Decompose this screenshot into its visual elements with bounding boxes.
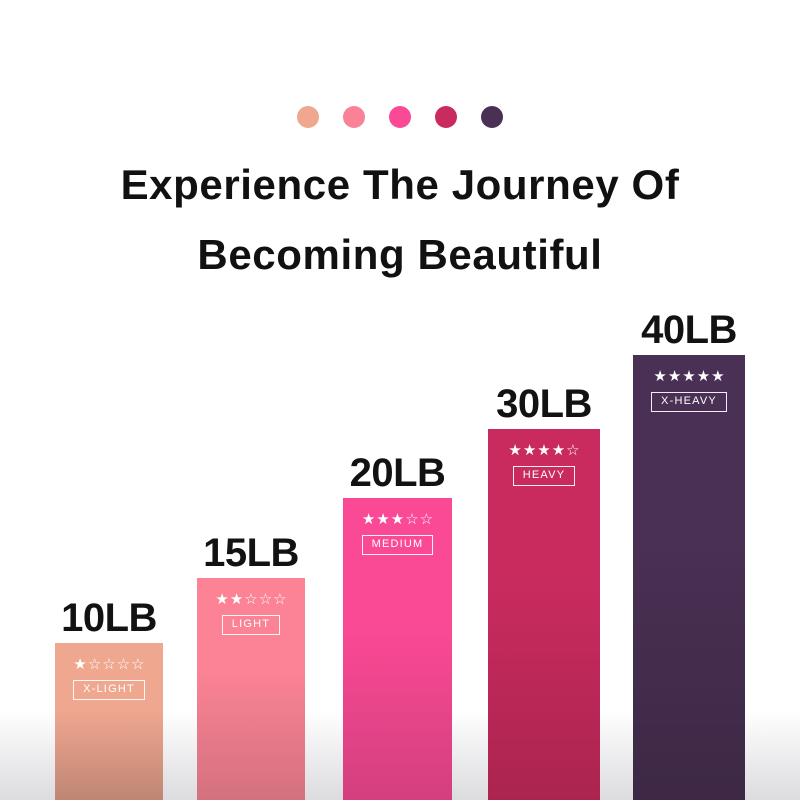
star-filled-icon: ★ <box>682 369 695 384</box>
bar-badge-x-heavy: X-HEAVY <box>651 392 727 412</box>
star-filled-icon: ★ <box>508 443 521 458</box>
bar-group-medium[interactable]: 20LB★★★☆☆MEDIUM <box>343 428 452 800</box>
star-empty-icon: ☆ <box>259 592 272 607</box>
star-filled-icon: ★ <box>552 443 565 458</box>
bar-weight-label-x-heavy: 40LB <box>641 310 737 350</box>
star-empty-icon: ☆ <box>131 657 144 672</box>
star-rating-x-light: ★☆☆☆☆ <box>73 657 144 672</box>
star-filled-icon: ★ <box>523 443 536 458</box>
dot-heavy-icon <box>435 106 457 128</box>
page-title-line-2: Becoming Beautiful <box>0 220 800 290</box>
bar-content-x-heavy: ★★★★★X-HEAVY <box>633 369 745 412</box>
star-empty-icon: ☆ <box>117 657 130 672</box>
bar-group-x-light[interactable]: 10LB★☆☆☆☆X-LIGHT <box>55 573 163 800</box>
bar-heavy[interactable]: ★★★★☆HEAVY <box>488 429 600 800</box>
star-rating-light: ★★☆☆☆ <box>215 592 286 607</box>
bar-group-heavy[interactable]: 30LB★★★★☆HEAVY <box>488 359 600 800</box>
bar-x-light[interactable]: ★☆☆☆☆X-LIGHT <box>55 643 163 800</box>
bar-weight-label-light: 15LB <box>203 533 299 573</box>
bar-weight-label-x-light: 10LB <box>61 598 157 638</box>
bar-content-light: ★★☆☆☆LIGHT <box>197 592 305 635</box>
star-empty-icon: ☆ <box>88 657 101 672</box>
star-empty-icon: ☆ <box>405 512 418 527</box>
star-empty-icon: ☆ <box>420 512 433 527</box>
star-filled-icon: ★ <box>376 512 389 527</box>
star-filled-icon: ★ <box>711 369 724 384</box>
dot-x-light-icon <box>297 106 319 128</box>
dot-x-heavy-icon <box>481 106 503 128</box>
star-filled-icon: ★ <box>362 512 375 527</box>
star-filled-icon: ★ <box>73 657 86 672</box>
star-empty-icon: ☆ <box>102 657 115 672</box>
bar-content-x-light: ★☆☆☆☆X-LIGHT <box>55 657 163 700</box>
bar-weight-label-heavy: 30LB <box>496 384 592 424</box>
star-rating-x-heavy: ★★★★★ <box>653 369 724 384</box>
star-empty-icon: ☆ <box>566 443 579 458</box>
bar-medium[interactable]: ★★★☆☆MEDIUM <box>343 498 452 800</box>
star-filled-icon: ★ <box>391 512 404 527</box>
page-title-line-1: Experience The Journey Of <box>0 150 800 220</box>
bar-light[interactable]: ★★☆☆☆LIGHT <box>197 578 305 800</box>
bar-badge-medium: MEDIUM <box>362 535 434 555</box>
star-rating-heavy: ★★★★☆ <box>508 443 579 458</box>
bar-weight-label-medium: 20LB <box>350 453 446 493</box>
star-filled-icon: ★ <box>653 369 666 384</box>
star-empty-icon: ☆ <box>273 592 286 607</box>
star-empty-icon: ☆ <box>244 592 257 607</box>
bar-badge-light: LIGHT <box>222 615 280 635</box>
star-rating-medium: ★★★☆☆ <box>362 512 433 527</box>
bar-badge-heavy: HEAVY <box>513 466 575 486</box>
star-filled-icon: ★ <box>537 443 550 458</box>
color-swatch-dot-row <box>0 106 800 128</box>
bar-content-heavy: ★★★★☆HEAVY <box>488 443 600 486</box>
bar-content-medium: ★★★☆☆MEDIUM <box>343 512 452 555</box>
star-filled-icon: ★ <box>668 369 681 384</box>
star-filled-icon: ★ <box>230 592 243 607</box>
bar-group-light[interactable]: 15LB★★☆☆☆LIGHT <box>197 508 305 800</box>
resistance-band-poster: Experience The Journey Of Becoming Beaut… <box>0 0 800 800</box>
bar-group-x-heavy[interactable]: 40LB★★★★★X-HEAVY <box>633 285 745 800</box>
star-filled-icon: ★ <box>215 592 228 607</box>
page-title: Experience The Journey Of Becoming Beaut… <box>0 150 800 290</box>
dot-light-icon <box>343 106 365 128</box>
bar-badge-x-light: X-LIGHT <box>73 680 145 700</box>
star-filled-icon: ★ <box>697 369 710 384</box>
bar-x-heavy[interactable]: ★★★★★X-HEAVY <box>633 355 745 800</box>
dot-medium-icon <box>389 106 411 128</box>
